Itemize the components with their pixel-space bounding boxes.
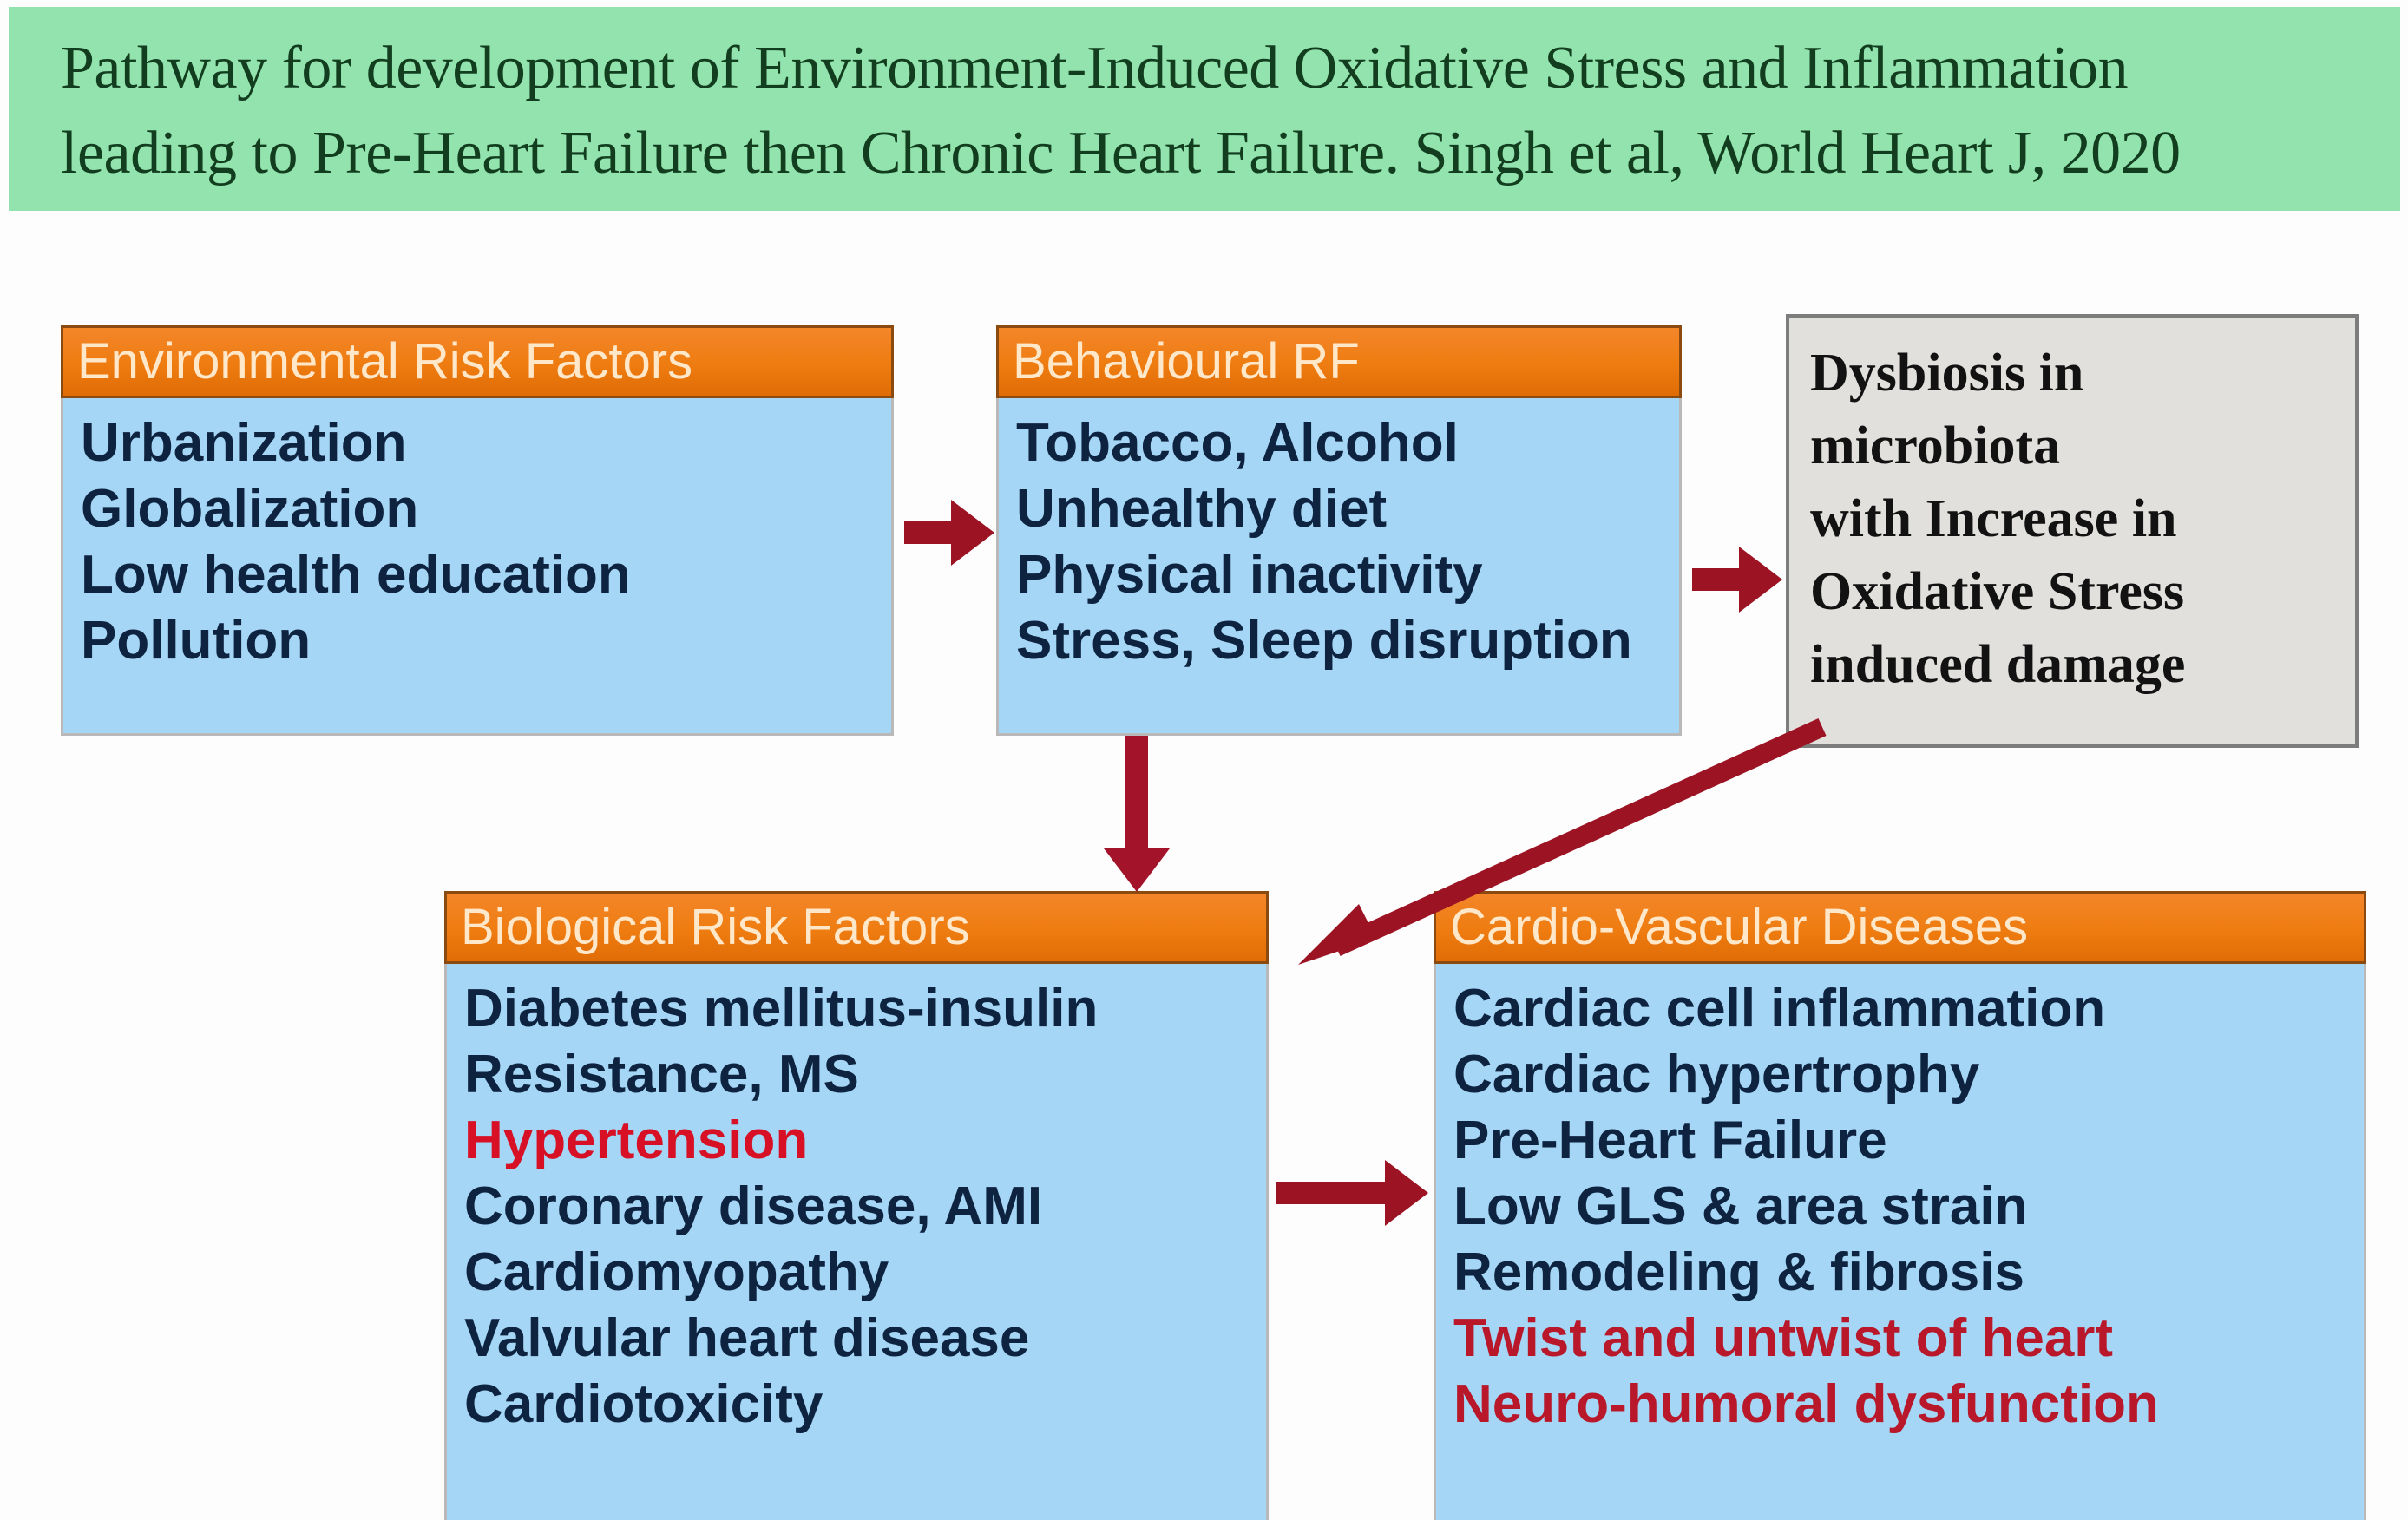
list-item: Remodeling & fibrosis <box>1453 1240 2364 1306</box>
list-item: Unhealthy diet <box>1016 476 1679 542</box>
list-item: Urbanization <box>81 410 891 476</box>
list-item: Cardiotoxicity <box>464 1372 1266 1438</box>
list-item: Coronary disease, AMI <box>464 1174 1266 1240</box>
list-item: Diabetes mellitus-insulin <box>464 976 1266 1042</box>
list-item: Globalization <box>81 476 891 542</box>
list-item: Valvular heart disease <box>464 1306 1266 1372</box>
box-behavioural-header: Behavioural RF <box>996 325 1682 398</box>
arrow-biological-to-cardiovascular <box>1276 1182 1388 1204</box>
list-item: with Increase in <box>1810 482 2346 555</box>
list-item: Pre-Heart Failure <box>1453 1108 2364 1174</box>
list-item: induced damage <box>1810 628 2346 701</box>
diagram-canvas: Pathway for development of Environment-I… <box>0 0 2408 1520</box>
list-item: Low GLS & area strain <box>1453 1174 2364 1240</box>
arrow-behavioural-to-biological <box>1125 736 1148 852</box>
list-item: Physical inactivity <box>1016 542 1679 608</box>
box-environmental-body: Urbanization Globalization Low health ed… <box>63 398 891 683</box>
list-item-hypertension: Hypertension <box>464 1108 1266 1174</box>
list-item: Oxidative Stress <box>1810 555 2346 628</box>
box-environmental-risk-factors[interactable]: Environmental Risk Factors Urbanization … <box>61 328 894 736</box>
box-behavioural-header-label: Behavioural RF <box>999 328 1679 396</box>
title-line-2: leading to Pre-Heart Failure then Chroni… <box>61 111 2371 196</box>
list-item: Tobacco, Alcohol <box>1016 410 1679 476</box>
list-item: Resistance, MS <box>464 1042 1266 1108</box>
box-biological-header: Biological Risk Factors <box>444 891 1269 964</box>
list-item: Stress, Sleep disruption <box>1016 608 1679 674</box>
title-banner: Pathway for development of Environment-I… <box>9 7 2400 211</box>
box-environmental-header-label: Environmental Risk Factors <box>63 328 891 396</box>
box-biological-risk-factors[interactable]: Biological Risk Factors Diabetes mellitu… <box>444 894 1269 1520</box>
list-item-neuro-humoral: Neuro-humoral dysfunction <box>1453 1372 2364 1438</box>
box-cardio-vascular-diseases[interactable]: Cardio-Vascular Diseases Cardiac cell in… <box>1434 894 2366 1520</box>
box-cardiovascular-header-label: Cardio-Vascular Diseases <box>1436 894 2364 961</box>
arrow-environmental-to-behavioural <box>904 521 955 544</box>
list-item: microbiota <box>1810 409 2346 482</box>
list-item: Cardiomyopathy <box>464 1240 1266 1306</box>
arrow-behavioural-to-dysbiosis <box>1692 568 1742 591</box>
list-item: Cardiac cell inflammation <box>1453 976 2364 1042</box>
list-item: Dysbiosis in <box>1810 337 2346 409</box>
list-item: Pollution <box>81 608 891 674</box>
box-biological-body: Diabetes mellitus-insulin Resistance, MS… <box>447 964 1266 1446</box>
box-cardiovascular-header: Cardio-Vascular Diseases <box>1434 891 2366 964</box>
box-behavioural-body: Tobacco, Alcohol Unhealthy diet Physical… <box>999 398 1679 683</box>
box-cardiovascular-body: Cardiac cell inflammation Cardiac hypert… <box>1436 964 2364 1446</box>
list-item: Cardiac hypertrophy <box>1453 1042 2364 1108</box>
title-line-1: Pathway for development of Environment-I… <box>61 26 2371 111</box>
list-item-twist-untwist: Twist and untwist of heart <box>1453 1306 2364 1372</box>
box-environmental-header: Environmental Risk Factors <box>61 325 894 398</box>
list-item: Low health education <box>81 542 891 608</box>
box-biological-header-label: Biological Risk Factors <box>447 894 1266 961</box>
box-behavioural-rf[interactable]: Behavioural RF Tobacco, Alcohol Unhealth… <box>996 328 1682 736</box>
box-dysbiosis-microbiota[interactable]: Dysbiosis in microbiota with Increase in… <box>1786 314 2359 748</box>
